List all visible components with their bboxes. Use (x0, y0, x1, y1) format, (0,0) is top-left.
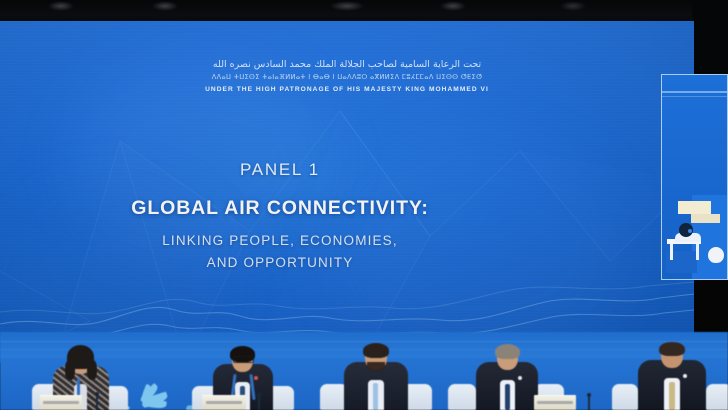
screenshot-stage: تحت الرعاية السامية لصاحب الجلالة الملك … (0, 0, 728, 410)
microphone-1 (96, 394, 98, 410)
patronage-tifinagh-text: ⴷⴷⴰⵡ ⵜⵡⵉⵙⵉ ⵜⴰⵏⴰⴼⵍⵍⴰⵜ ⵏ ⴱⴰⴱ ⵏ ⵡⴰⴷⴷⵓⵔ ⴰⴳⵍⵍ… (0, 72, 694, 83)
name-placard-1 (40, 395, 82, 410)
secondary-display (661, 74, 728, 280)
patronage-header: تحت الرعاية السامية لصاحب الجلالة الملك … (0, 58, 694, 95)
lapel-pin (254, 376, 258, 380)
eyeglasses (233, 356, 254, 363)
panelist-seat-3 (326, 332, 426, 410)
name-placard-3 (534, 395, 576, 410)
backdrop-glow-b (330, 141, 630, 361)
microphone-3 (588, 395, 590, 410)
led-scanline-texture (0, 21, 694, 362)
microphone-2 (258, 395, 260, 410)
side-screen-band-1 (662, 91, 727, 93)
decorative-plant-graphic (120, 378, 174, 408)
backdrop-facet-art (0, 21, 694, 362)
patronage-arabic-text: تحت الرعاية السامية لصاحب الجلالة الملك … (0, 58, 694, 71)
panelist-3 (342, 334, 410, 410)
panelist-4 (474, 334, 540, 410)
panel-subtitle-line-1: LINKING PEOPLE, ECONOMIES, (0, 231, 560, 251)
panelist-seat-5 (622, 332, 726, 410)
name-placard-2 (202, 395, 246, 410)
panel-subtitle-line-2: AND OPPORTUNITY (0, 253, 560, 273)
patronage-english-text: UNDER THE HIGH PATRONAGE OF HIS MAJESTY … (0, 84, 694, 95)
hall-dark-right (692, 0, 728, 72)
panel-heading: GLOBAL AIR CONNECTIVITY: (0, 196, 560, 220)
main-led-screen: تحت الرعاية السامية لصاحب الجلالة الملك … (0, 21, 694, 362)
lapel-pin-2 (518, 376, 522, 380)
panel-title-block: PANEL 1 GLOBAL AIR CONNECTIVITY: LINKING… (0, 159, 560, 273)
side-screen-illustration (662, 195, 727, 279)
stage-foreground (0, 332, 728, 410)
panel-number-label: PANEL 1 (0, 159, 560, 181)
backdrop-glow-a (70, 61, 330, 261)
lapel-pin-3 (683, 374, 687, 378)
panelist-5 (636, 334, 708, 410)
side-screen-band-2 (662, 96, 727, 97)
beard (367, 362, 385, 371)
